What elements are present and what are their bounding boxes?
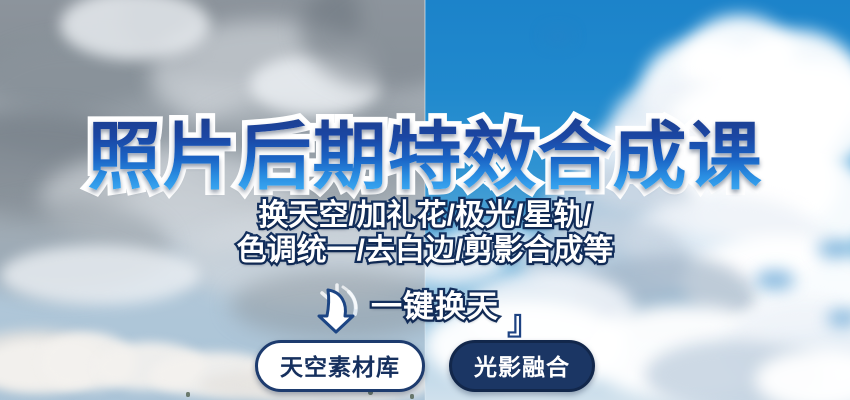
page-title: 照片后期特效合成课 照片后期特效合成课 (0, 115, 850, 199)
feature-pill-row: 天空素材库 光影融合 (0, 340, 850, 392)
curved-down-arrow-icon (309, 280, 365, 336)
subtitle-line-2: 色调统一/去白边/剪影合成等 (0, 233, 850, 268)
promo-banner: 照片后期特效合成课 照片后期特效合成课 换天空/加礼花/极光/星轨/ 色调统一/… (0, 0, 850, 400)
one-click-label: 一键换天 (371, 289, 499, 325)
one-click-row: 一键换天 』 (0, 278, 850, 336)
closing-corner-bracket-icon: 』 (507, 306, 541, 340)
pill-sky-asset-library[interactable]: 天空素材库 (255, 340, 425, 392)
page-title-fill: 照片后期特效合成课 (88, 115, 763, 198)
banner-content: 照片后期特效合成课 照片后期特效合成课 换天空/加礼花/极光/星轨/ 色调统一/… (0, 0, 850, 400)
subtitle-block: 换天空/加礼花/极光/星轨/ 色调统一/去白边/剪影合成等 (0, 198, 850, 268)
subtitle-line-1: 换天空/加礼花/极光/星轨/ (0, 198, 850, 233)
pill-light-shadow-blend[interactable]: 光影融合 (449, 340, 595, 392)
